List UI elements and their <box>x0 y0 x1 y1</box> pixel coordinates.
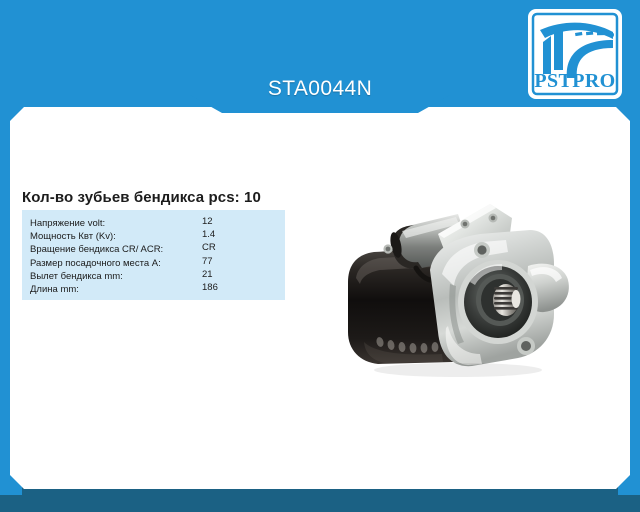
product-spec-sheet: PSTPRO STA0044N Кол-во зубьев бендикса p… <box>0 0 640 512</box>
spec-value: 77 <box>202 255 213 268</box>
table-row: Размер посадочного места А: 77 <box>30 255 277 268</box>
spec-value: 186 <box>202 281 218 294</box>
svg-text:PSTPRO: PSTPRO <box>534 70 615 92</box>
spec-value: CR <box>202 241 216 254</box>
spec-value: 1.4 <box>202 228 215 241</box>
product-image <box>330 186 586 382</box>
spec-label: Длина mm: <box>30 284 79 295</box>
page-title: STA0044N <box>268 75 372 99</box>
spec-value: 12 <box>202 215 213 228</box>
table-row: Вращение бендикса CR/ ACR: CR <box>30 241 277 254</box>
company-logo: PSTPRO <box>527 8 623 100</box>
table-row: Вылет бендикса mm: 21 <box>30 268 277 281</box>
table-row: Длина mm: 186 <box>30 281 277 294</box>
teeth-count-heading: Кол-во зубьев бендикса pcs: 10 <box>22 189 261 206</box>
specifications-table: Напряжение volt: 12 Мощность Квт (Kv): 1… <box>22 210 285 300</box>
spec-value: 21 <box>202 268 213 281</box>
title-tab: STA0044N <box>190 75 450 113</box>
table-row: Напряжение volt: 12 <box>30 215 277 228</box>
table-row: Мощность Квт (Kv): 1.4 <box>30 228 277 241</box>
